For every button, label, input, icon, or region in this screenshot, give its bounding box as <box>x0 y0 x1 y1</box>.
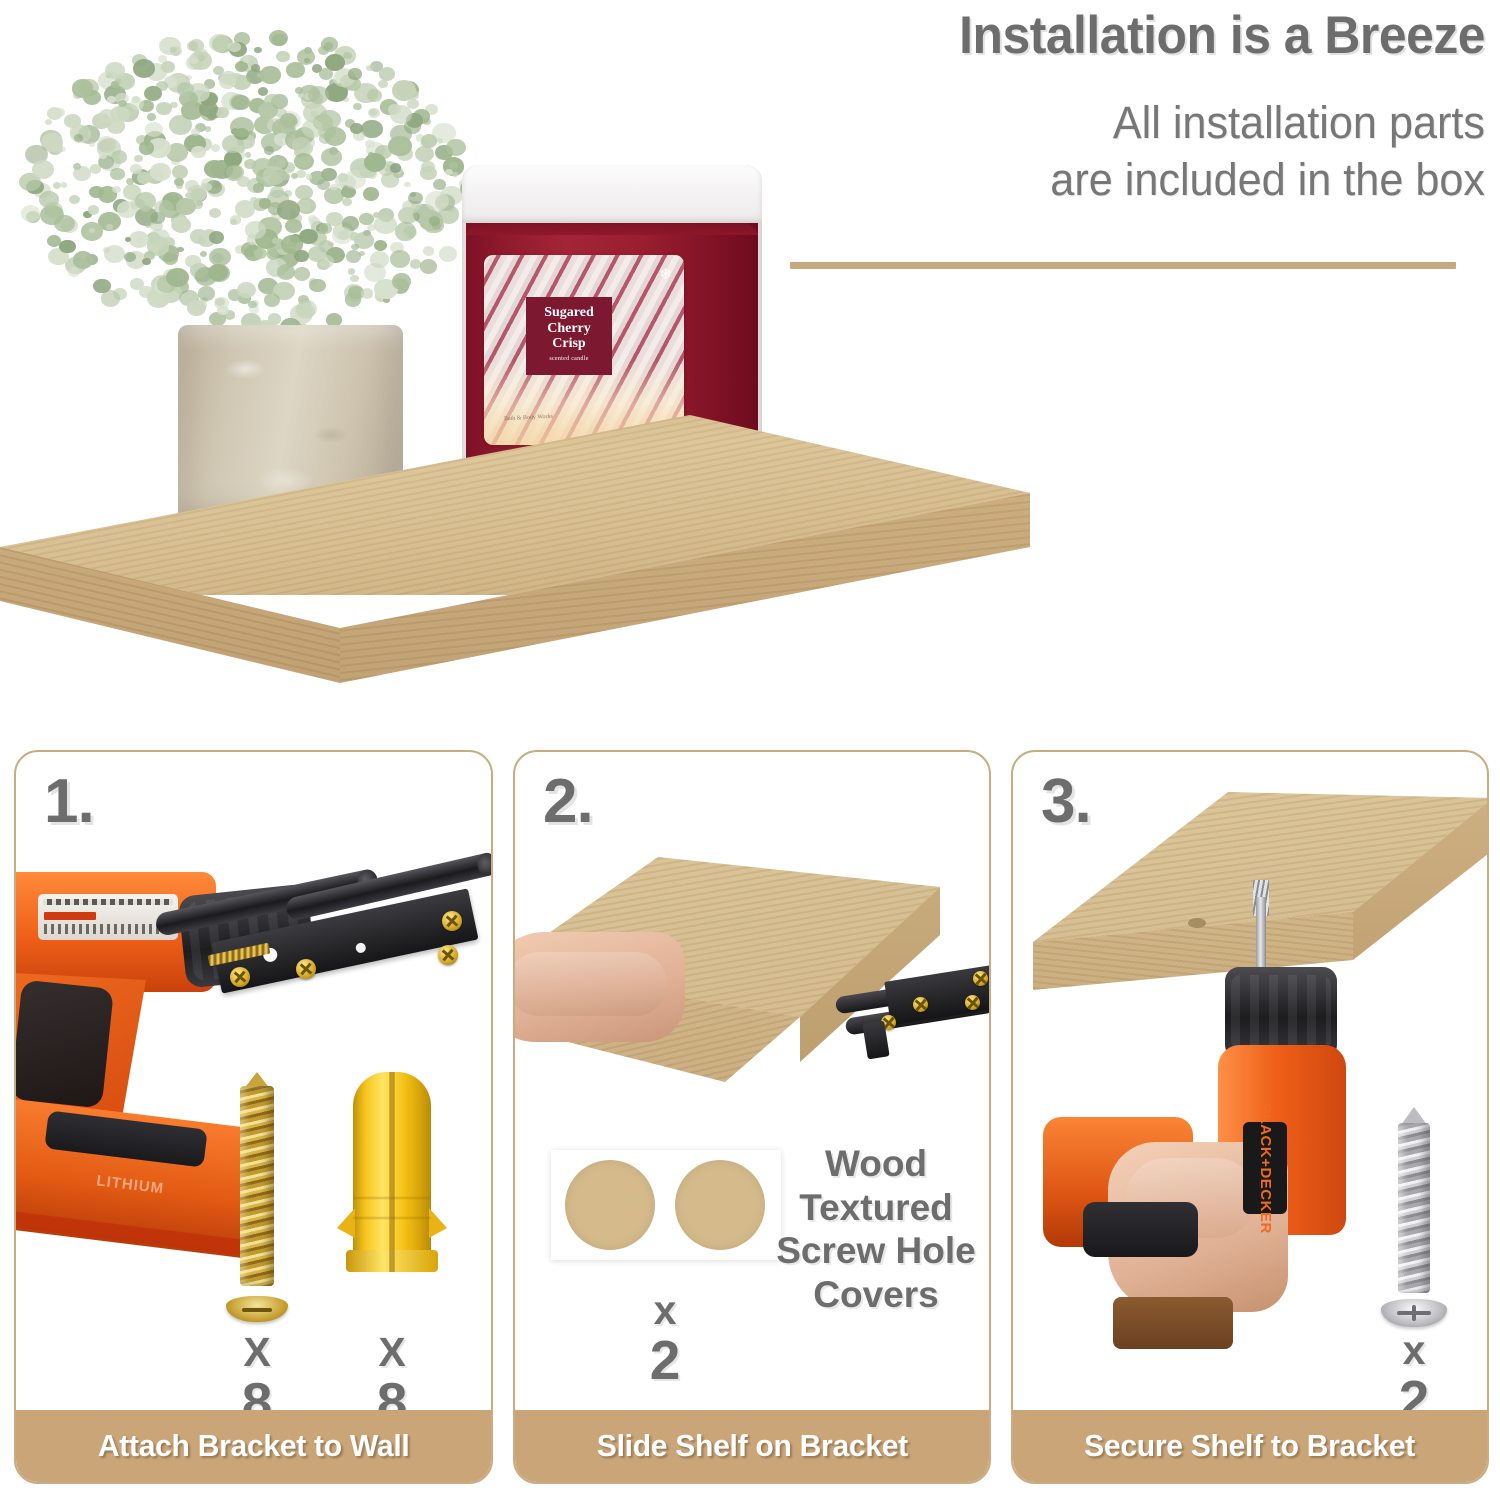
screw-hole <box>1188 918 1206 928</box>
hero-subtitle-line2: are included in the box <box>775 151 1485 209</box>
shelf-bracket-icon <box>136 867 481 1017</box>
step-number-2: 2. <box>543 766 593 837</box>
cover-qty-n: 2 <box>625 1332 705 1388</box>
step-caption-2: Slide Shelf on Bracket <box>515 1410 989 1482</box>
screw-gold-qty-x: X <box>226 1332 288 1374</box>
candle-name-line2: Cherry <box>547 321 591 337</box>
candle-label-plate: Sugared Cherry Crisp scented candle <box>526 297 612 375</box>
hero-divider <box>790 262 1456 269</box>
set-screw-silver-icon <box>1381 1107 1447 1327</box>
wall-anchor-yellow-icon <box>353 1072 431 1272</box>
screw-hole-cover-icon <box>565 1160 655 1250</box>
screw-hole-cover-icon <box>675 1160 765 1250</box>
candle-name-line1: Sugared <box>544 305 594 321</box>
step-caption-1: Attach Bracket to Wall <box>16 1410 491 1482</box>
wood-screw-gold-icon <box>226 1072 288 1322</box>
plant-foliage <box>10 5 490 345</box>
step-caption-2-text: Slide Shelf on Bracket <box>596 1428 907 1464</box>
covers-label-line3: Screw Hole <box>765 1229 987 1273</box>
step-caption-3-text: Secure Shelf to Bracket <box>1085 1428 1416 1464</box>
hero-text-block: Installation is a Breeze All installatio… <box>745 8 1485 209</box>
hero-section: ❄ Sugared Cherry Crisp scented candle Ba… <box>0 0 1500 740</box>
cordless-drill-icon: BLACK+DECKER <box>1053 967 1383 1277</box>
screw-hole-covers-label: Wood Textured Screw Hole Covers <box>765 1142 987 1317</box>
hand-icon <box>513 932 685 1042</box>
step-caption-1-text: Attach Bracket to Wall <box>98 1428 410 1464</box>
screw-hole-covers-card <box>551 1150 781 1260</box>
snowflake-icon: ❄ <box>659 265 672 283</box>
floating-shelf-hero <box>0 415 1030 700</box>
set-screw-qty-x: x <box>1381 1330 1447 1372</box>
step-number-1: 1. <box>44 766 94 837</box>
screw-hole-cover-quantity: x 2 <box>625 1290 705 1388</box>
shelf-bracket-icon <box>835 967 991 1047</box>
covers-label-line2: Textured <box>765 1186 987 1230</box>
step-panel-2: 2. x 2 Wood Textured Screw Hole Covers S… <box>513 750 991 1484</box>
step-panel-3: 3. BLACK+DECKER x 2 Secure Shelf to Brac… <box>1011 750 1489 1484</box>
step-caption-3: Secure Shelf to Bracket <box>1013 1410 1487 1482</box>
candle-name-line3: Crisp <box>552 336 585 352</box>
candle-subtitle: scented candle <box>549 356 588 363</box>
hero-subtitle-line1: All installation parts <box>775 94 1485 152</box>
page-title: Installation is a Breeze <box>789 8 1485 64</box>
step-panel-1: 1. LITHIUM X 8 X 8 Attach Bracket to <box>14 750 493 1484</box>
cover-qty-x: x <box>625 1290 705 1332</box>
drill-brand-text: BLACK+DECKER <box>1258 1103 1273 1234</box>
covers-label-line4: Covers <box>765 1273 987 1317</box>
drill-brand-badge: BLACK+DECKER <box>1243 1122 1287 1214</box>
candle-glass-rim <box>462 165 762 223</box>
covers-label-line1: Wood <box>765 1142 987 1186</box>
wall-anchor-qty-x: X <box>353 1332 431 1374</box>
hero-subtitle: All installation parts are included in t… <box>775 94 1485 209</box>
